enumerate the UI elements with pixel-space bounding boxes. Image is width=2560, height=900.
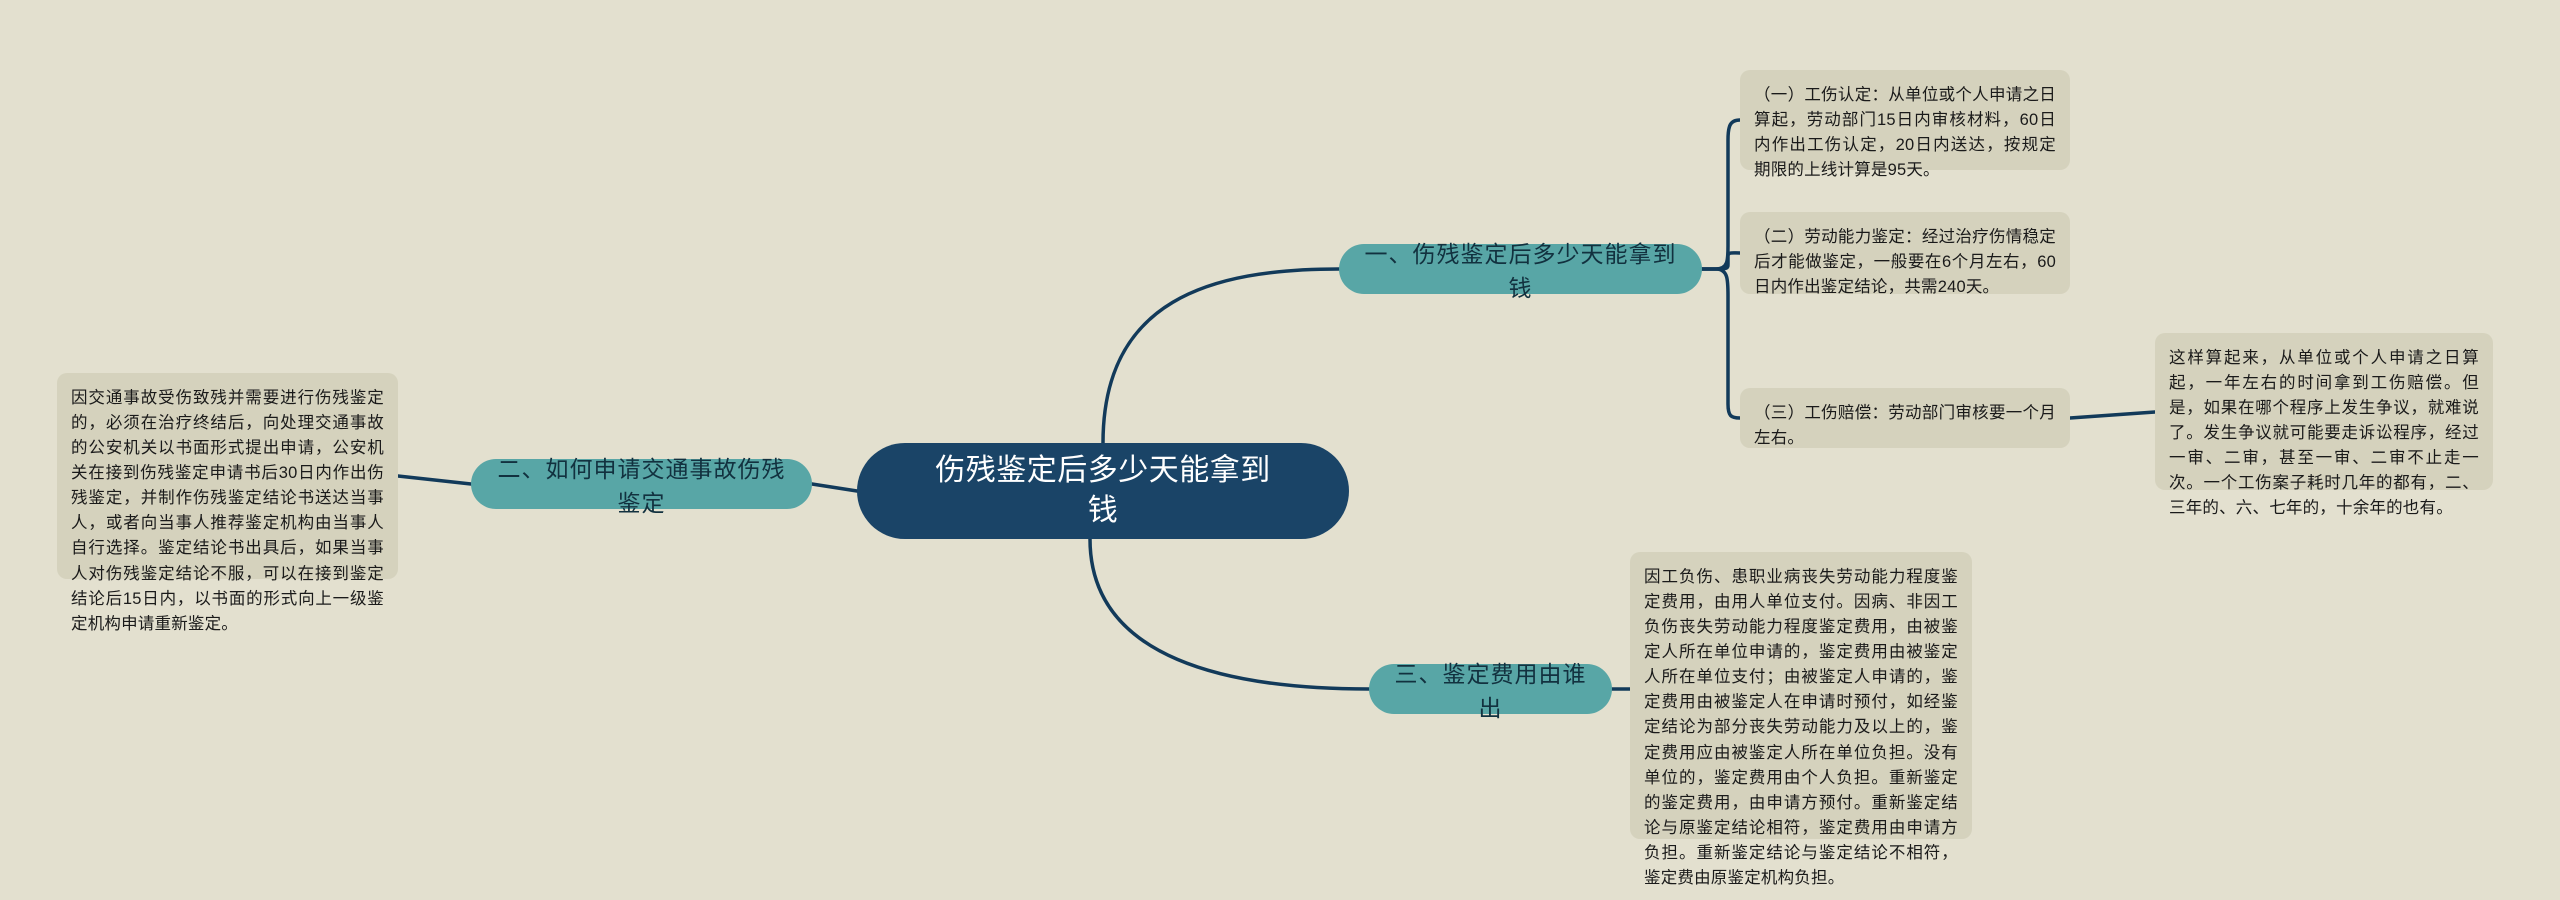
leaf-box-work-injury-compensation[interactable]: （三）工伤赔偿：劳动部门审核要一个月左右。	[1740, 388, 2070, 448]
leaf-box-text: 这样算起来，从单位或个人申请之日算起，一年左右的时间拿到工伤赔偿。但是，如果在哪…	[2169, 349, 2479, 517]
leaf-box-text: （二）劳动能力鉴定：经过治疗伤情稳定后才能做鉴定，一般要在6个月左右，60日内作…	[1754, 228, 2056, 296]
leaf-box-who-pays-appraisal-fee[interactable]: 因工负伤、患职业病丧失劳动能力程度鉴定费用，由用人单位支付。因病、非因工负伤丧失…	[1630, 552, 1972, 839]
branch-node-2[interactable]: 二、如何申请交通事故伤残鉴定	[471, 459, 812, 509]
connector-branch-1-leaf-1	[1702, 120, 1740, 269]
branch-node-1[interactable]: 一、伤残鉴定后多少天能拿到钱	[1339, 244, 1702, 294]
leaf-box-text: 因交通事故受伤致残并需要进行伤残鉴定的，必须在治疗终结后，向处理交通事故的公安机…	[71, 389, 384, 633]
branch-node-3[interactable]: 三、鉴定费用由谁出	[1369, 664, 1612, 714]
connector-branch-1-leaf-3	[1702, 269, 1740, 418]
mindmap-canvas: 伤残鉴定后多少天能拿到 钱 一、伤残鉴定后多少天能拿到钱 二、如何申请交通事故伤…	[0, 0, 2560, 900]
leaf-box-work-injury-determination[interactable]: （一）工伤认定：从单位或个人申请之日算起，劳动部门15日内审核材料，60日内作出…	[1740, 70, 2070, 170]
root-node[interactable]: 伤残鉴定后多少天能拿到 钱	[857, 443, 1349, 539]
leaf-box-how-to-apply-appraisal[interactable]: 因交通事故受伤致残并需要进行伤残鉴定的，必须在治疗终结后，向处理交通事故的公安机…	[57, 373, 398, 579]
connector-branch-1-leaf-2	[1702, 253, 1740, 269]
branch-node-3-label: 三、鉴定费用由谁出	[1391, 655, 1590, 723]
connector-branch-2-to-leaf	[398, 476, 471, 484]
branch-node-2-label: 二、如何申请交通事故伤残鉴定	[493, 450, 790, 518]
root-node-label: 伤残鉴定后多少天能拿到 钱	[935, 451, 1271, 532]
connector-leaf-1-3-to-summary	[2070, 412, 2155, 418]
leaf-box-text: 因工负伤、患职业病丧失劳动能力程度鉴定费用，由用人单位支付。因病、非因工负伤丧失…	[1644, 568, 1958, 887]
connector-root-to-branch-1	[1103, 269, 1339, 443]
leaf-box-labor-capacity-appraisal[interactable]: （二）劳动能力鉴定：经过治疗伤情稳定后才能做鉴定，一般要在6个月左右，60日内作…	[1740, 212, 2070, 294]
leaf-box-text: （三）工伤赔偿：劳动部门审核要一个月左右。	[1754, 404, 2056, 447]
connector-root-to-branch-3	[1090, 539, 1369, 689]
connector-root-to-branch-2	[812, 484, 857, 491]
leaf-box-text: （一）工伤认定：从单位或个人申请之日算起，劳动部门15日内审核材料，60日内作出…	[1754, 86, 2056, 179]
leaf-box-overall-timeline-summary[interactable]: 这样算起来，从单位或个人申请之日算起，一年左右的时间拿到工伤赔偿。但是，如果在哪…	[2155, 333, 2493, 490]
branch-node-1-label: 一、伤残鉴定后多少天能拿到钱	[1361, 235, 1680, 303]
